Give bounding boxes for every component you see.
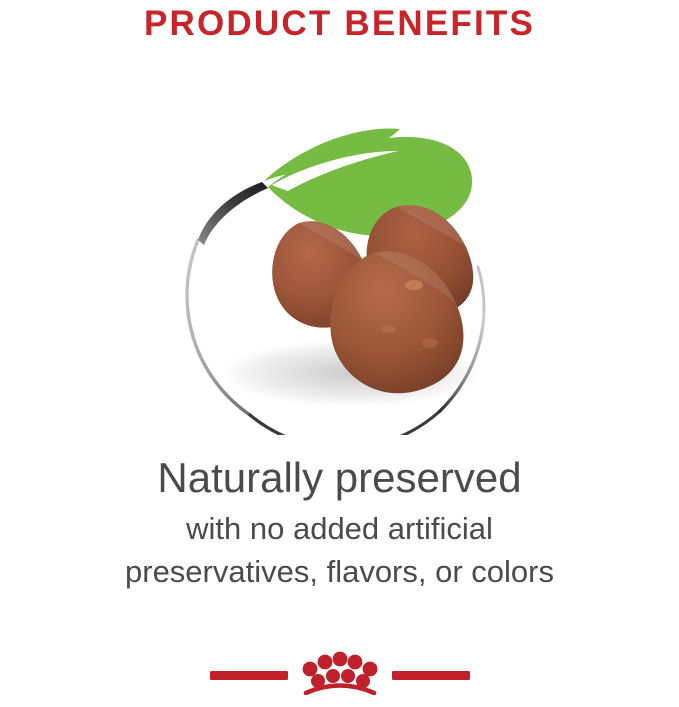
brand-footer [0, 639, 679, 699]
benefit-subtext-line-2: preservatives, flavors, or colors [0, 551, 679, 593]
benefit-headline: Naturally preserved [0, 455, 679, 500]
benefit-copy-block: Naturally preserved with no added artifi… [0, 455, 679, 593]
product-benefits-panel: PRODUCT BENEFITS [0, 0, 679, 707]
benefit-subtext-line-1: with no added artificial [0, 508, 679, 550]
hero-illustration [0, 95, 679, 435]
page-title-bar: PRODUCT BENEFITS [0, 0, 679, 46]
royal-canin-crown-logo [210, 643, 470, 695]
hero-graphic [0, 95, 679, 435]
page-title: PRODUCT BENEFITS [144, 6, 535, 41]
